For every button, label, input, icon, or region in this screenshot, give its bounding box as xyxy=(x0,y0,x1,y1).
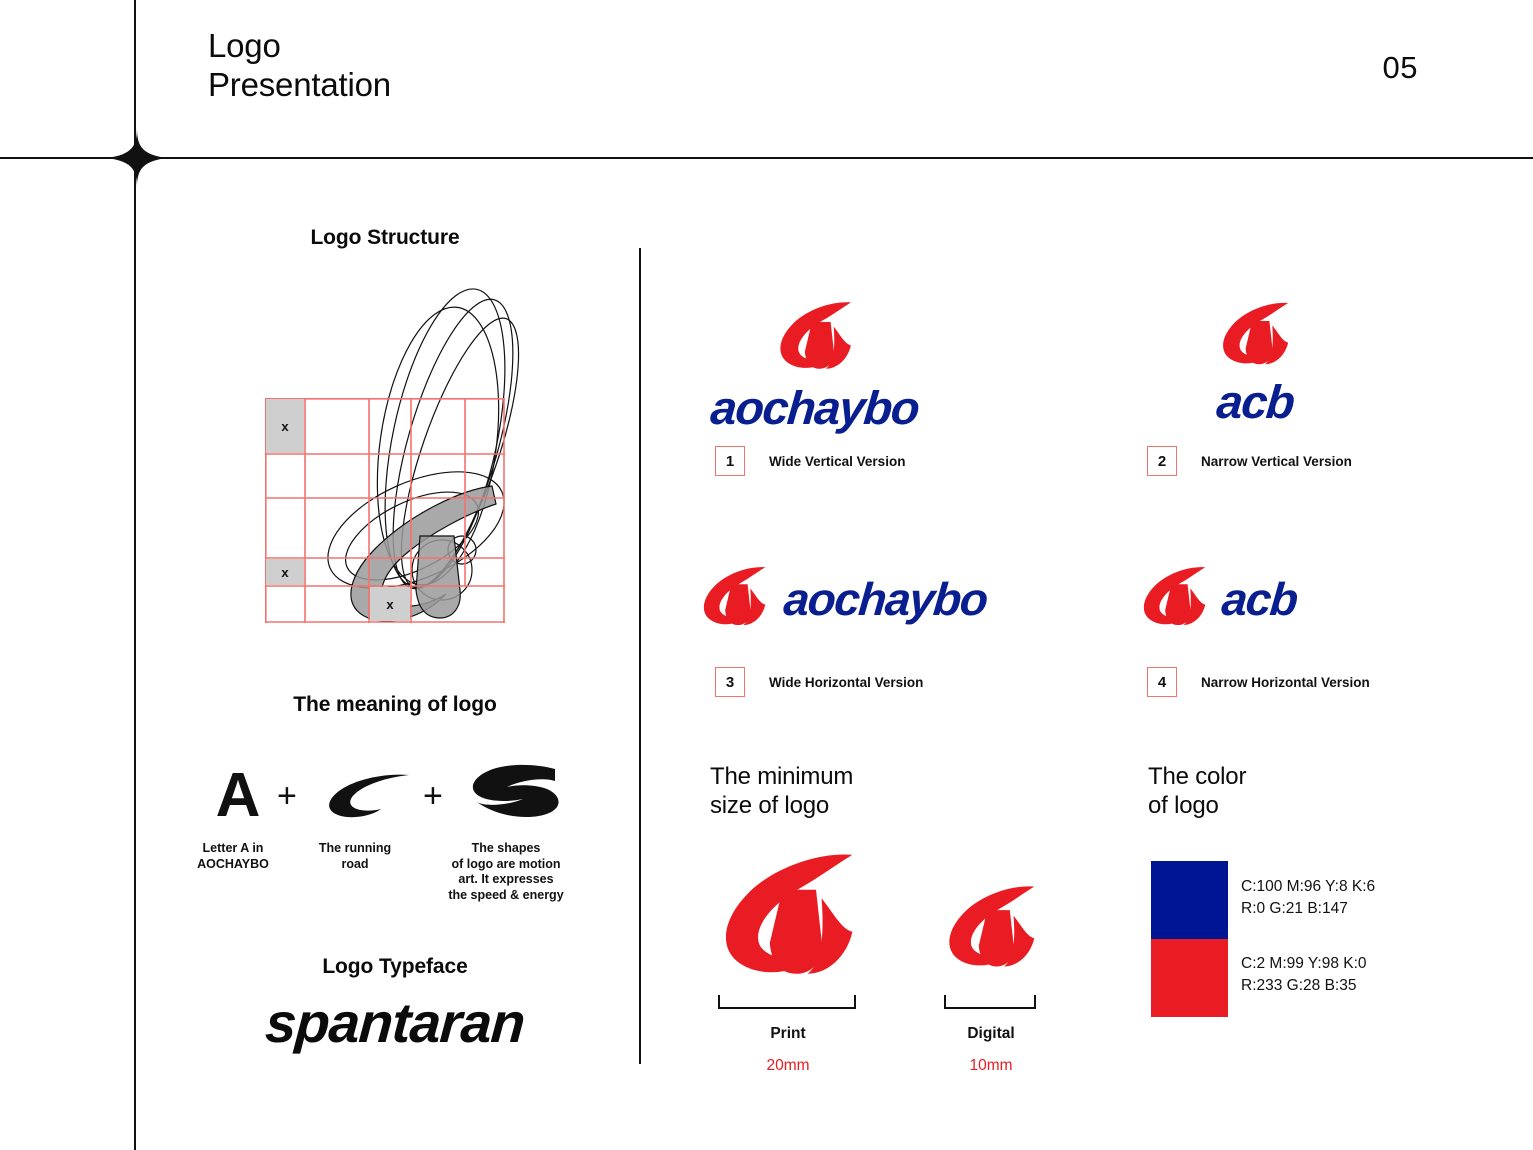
logo-mark-icon xyxy=(700,565,768,628)
logo-variant-4-caption: 4 Narrow Horizontal Version xyxy=(1147,667,1370,697)
logo-variant-3-caption: 3 Wide Horizontal Version xyxy=(715,667,923,697)
digital-measure-bracket xyxy=(944,995,1036,1009)
meaning-caption: Letter A in AOCHAYBO xyxy=(186,841,280,872)
logo-variant-3-art: aochaybo xyxy=(700,565,1000,628)
digital-value: 10mm xyxy=(944,1057,1038,1075)
logo-variant-1-art: aochaybo xyxy=(700,300,930,431)
logo-variant-2: acb 2 Narrow Vertical Version xyxy=(1140,300,1370,425)
variant-number-badge: 1 xyxy=(715,446,745,476)
plus-operator-1: + xyxy=(277,777,297,816)
logo-wordmark: aochaybo xyxy=(709,384,921,431)
variant-number-badge: 4 xyxy=(1147,667,1177,697)
color-swatch-red xyxy=(1151,939,1228,1017)
page-number: 05 xyxy=(1383,50,1418,86)
header-divider-line xyxy=(0,157,1533,159)
color-heading: The color of logo xyxy=(1148,762,1246,820)
logo-mark-icon xyxy=(1219,300,1291,368)
logo-mark-icon xyxy=(776,300,854,372)
logo-mark-icon xyxy=(1140,565,1208,628)
slide-page: Logo Presentation 05 Logo Structure xyxy=(0,0,1533,1150)
variant-label: Narrow Horizontal Version xyxy=(1201,675,1370,690)
letter-a-glyph: A xyxy=(213,761,263,823)
logo-structure-diagram: x x x xyxy=(265,398,505,623)
logo-wordmark: aochaybo xyxy=(782,576,989,622)
logo-structure-heading: Logo Structure xyxy=(245,226,525,250)
page-title: Logo Presentation xyxy=(208,26,391,104)
logo-variant-1-caption: 1 Wide Vertical Version xyxy=(715,446,905,476)
variant-label: Wide Horizontal Version xyxy=(769,675,923,690)
logo-variant-2-caption: 2 Narrow Vertical Version xyxy=(1147,446,1352,476)
logo-variant-4-art: acb xyxy=(1140,565,1440,628)
minimum-size-digital: Digital 10mm xyxy=(944,880,1038,979)
motion-s-glyph xyxy=(467,763,559,825)
color-spec-blue: C:100 M:96 Y:8 K:6 R:0 G:21 B:147 xyxy=(1241,876,1375,920)
meaning-heading: The meaning of logo xyxy=(245,693,545,717)
meaning-symbol-row: A + + xyxy=(195,755,590,835)
logo-wordmark: acb xyxy=(1215,378,1296,425)
plus-operator-2: + xyxy=(423,777,443,816)
grid-x-cell: x xyxy=(370,587,410,621)
column-divider-line xyxy=(639,248,641,1064)
print-label: Print xyxy=(718,1025,858,1043)
print-measure-bracket xyxy=(718,995,856,1009)
minimum-size-print: Print 20mm xyxy=(718,845,858,990)
grid-x-cell: x xyxy=(266,559,304,585)
variant-label: Wide Vertical Version xyxy=(769,454,905,469)
logo-variant-4: acb 4 Narrow Horizontal Version xyxy=(1140,565,1440,628)
logo-variant-2-art: acb xyxy=(1140,300,1370,425)
logo-variant-3: aochaybo 3 Wide Horizontal Version xyxy=(700,565,1000,628)
meaning-caption: The running road xyxy=(302,841,408,872)
digital-label: Digital xyxy=(944,1025,1038,1043)
logo-wordmark: acb xyxy=(1220,576,1299,622)
typeface-heading: Logo Typeface xyxy=(245,955,545,979)
grid-x-cell: x xyxy=(266,399,304,453)
variant-number-badge: 2 xyxy=(1147,446,1177,476)
four-point-star-icon xyxy=(106,127,168,189)
running-road-glyph xyxy=(325,771,411,819)
print-value: 20mm xyxy=(718,1057,858,1075)
minimum-size-heading: The minimum size of logo xyxy=(710,762,853,820)
typeface-sample: spantaran xyxy=(193,990,598,1055)
variant-number-badge: 3 xyxy=(715,667,745,697)
svg-text:A: A xyxy=(216,761,261,823)
color-spec-red: C:2 M:99 Y:98 K:0 R:233 G:28 B:35 xyxy=(1241,953,1367,997)
logo-mark-icon xyxy=(718,845,858,985)
logo-mark-icon xyxy=(944,880,1038,974)
meaning-caption: The shapes of logo are motion art. It ex… xyxy=(430,841,582,903)
color-swatch-blue xyxy=(1151,861,1228,939)
logo-variant-1: aochaybo 1 Wide Vertical Version xyxy=(700,300,930,431)
variant-label: Narrow Vertical Version xyxy=(1201,454,1352,469)
